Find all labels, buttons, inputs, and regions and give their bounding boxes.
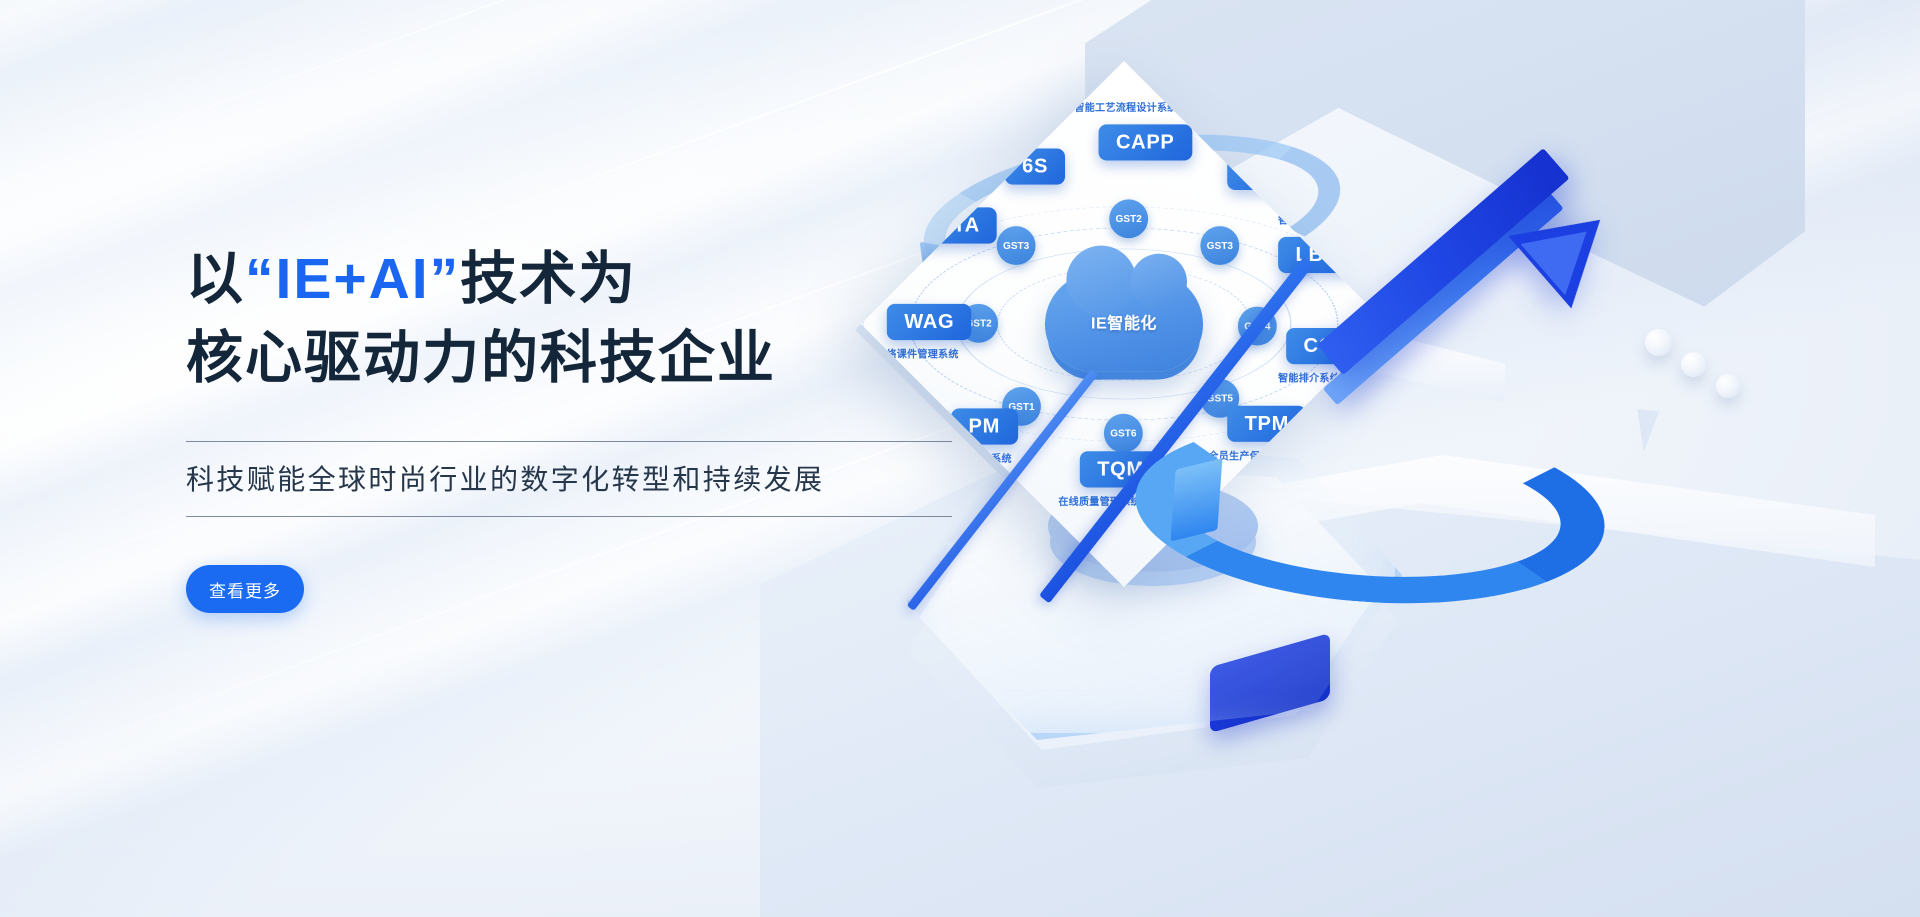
gst-node: GST3 bbox=[1200, 226, 1239, 265]
cloud-icon: IE智能化 bbox=[1045, 272, 1203, 371]
gst-node: GST6 bbox=[1104, 414, 1143, 453]
quote-open: “ bbox=[245, 247, 276, 311]
divider-bottom bbox=[186, 516, 952, 517]
page-title: 以“IE+AI”技术为 核心驱动力的科技企业 bbox=[186, 240, 1016, 397]
system-tag-caption: 智能工艺流程设计系统 bbox=[1074, 100, 1177, 115]
view-more-button[interactable]: 查看更多 bbox=[186, 565, 304, 613]
decor-cone bbox=[1633, 409, 1659, 453]
quote-close: ” bbox=[430, 247, 461, 311]
system-tag-capp: CAPP bbox=[1099, 124, 1192, 160]
page-subtitle: 科技赋能全球时尚行业的数字化转型和持续发展 bbox=[186, 442, 1016, 516]
decor-sphere-2 bbox=[1681, 352, 1706, 377]
hero-illustration: IE智能化 GST2GST3GST3GST4GST2GST5GST1GST66S… bbox=[880, 40, 1920, 917]
headline-accent: IE+AI bbox=[276, 247, 430, 311]
decor-sphere-1 bbox=[1645, 329, 1672, 356]
decor-sphere-3 bbox=[1716, 374, 1740, 398]
hero-banner: 以“IE+AI”技术为 核心驱动力的科技企业 科技赋能全球时尚行业的数字化转型和… bbox=[0, 0, 1920, 917]
system-tag-caption: 6S智能评分系统 bbox=[975, 124, 1050, 139]
headline-prefix: 以 bbox=[186, 247, 245, 311]
divider-top bbox=[186, 441, 952, 442]
headline-suffix: 技术为 bbox=[460, 247, 637, 311]
cloud-center-label: IE智能化 bbox=[1091, 311, 1157, 334]
gst-node: GST2 bbox=[1109, 199, 1148, 238]
growth-arrow bbox=[1310, 190, 1640, 660]
headline-line-2: 核心驱动力的科技企业 bbox=[186, 326, 776, 390]
hero-copy: 以“IE+AI”技术为 核心驱动力的科技企业 科技赋能全球时尚行业的数字化转型和… bbox=[186, 240, 1016, 613]
